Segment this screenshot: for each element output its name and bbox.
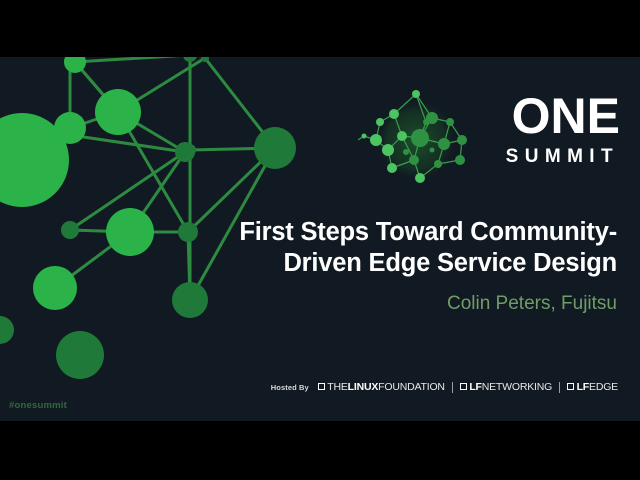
- sponsor-bold: LF: [469, 381, 481, 393]
- sponsor-suffix: EDGE: [589, 381, 618, 393]
- network-nodes-icon: [358, 88, 478, 188]
- sponsor-bold: LF: [577, 381, 589, 393]
- letterbox-top: [0, 0, 640, 57]
- hosted-by-footer: Hosted By THE LINUX FOUNDATION LF NETWOR…: [271, 381, 618, 393]
- lf-square-icon: [460, 383, 467, 390]
- lf-square-icon: [567, 383, 574, 390]
- slide-content-area: ONE SUMMIT First Steps Toward Community-…: [0, 57, 640, 421]
- sponsor-linux-foundation: THE LINUX FOUNDATION: [318, 381, 445, 393]
- sponsor-lf-networking: LF NETWORKING: [460, 381, 552, 393]
- lf-square-icon: [318, 383, 325, 390]
- footer-divider: [559, 382, 560, 393]
- letterbox-bottom: [0, 421, 640, 480]
- sponsor-suffix: NETWORKING: [482, 381, 552, 393]
- footer-divider: [452, 382, 453, 393]
- logo-one-text: ONE: [486, 88, 620, 144]
- sponsor-bold: LINUX: [348, 381, 379, 393]
- one-summit-logo: ONE SUMMIT: [358, 88, 620, 188]
- sponsor-prefix: THE: [327, 381, 347, 393]
- one-summit-wordmark: ONE SUMMIT: [486, 88, 620, 188]
- event-hashtag: #onesummit: [9, 400, 67, 411]
- sponsor-suffix: FOUNDATION: [378, 381, 445, 393]
- video-slide-frame: ONE SUMMIT First Steps Toward Community-…: [0, 0, 640, 480]
- speaker-name: Colin Peters, Fujitsu: [225, 292, 617, 316]
- presentation-title: First Steps Toward Community-Driven Edge…: [225, 217, 617, 279]
- hosted-by-label: Hosted By: [271, 383, 309, 392]
- sponsor-lf-edge: LF EDGE: [567, 381, 618, 393]
- logo-summit-text: SUMMIT: [486, 145, 620, 169]
